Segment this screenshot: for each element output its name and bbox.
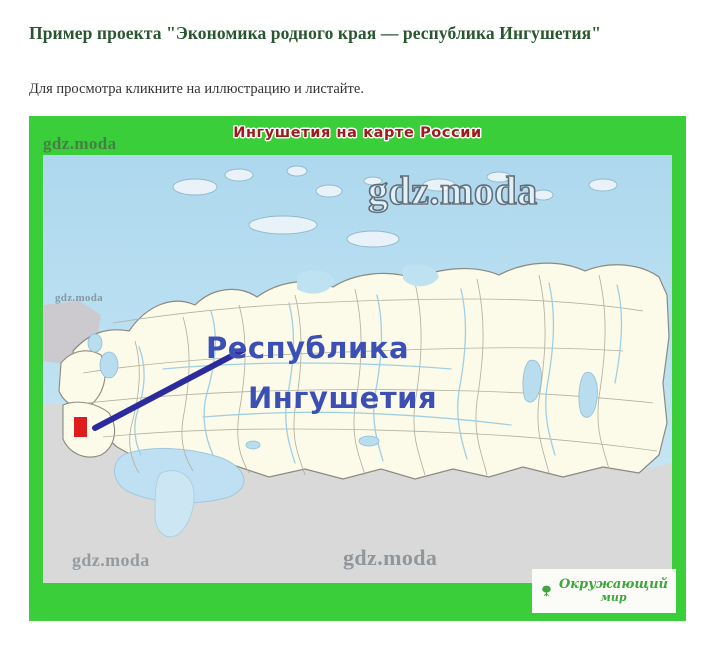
watermark-band: gdz.moda bbox=[43, 134, 117, 154]
illustration-caption: Ингушетия на карте России bbox=[29, 125, 686, 141]
russia-map-graphic bbox=[43, 155, 672, 583]
site-logo-line-2: мир bbox=[559, 592, 668, 604]
illustration-frame[interactable]: gdz.moda Ингушетия на карте России bbox=[29, 116, 686, 621]
site-logo-text: Окружающий мир bbox=[559, 578, 668, 603]
site-logo[interactable]: Окружающий мир bbox=[532, 569, 676, 613]
page-title: Пример проекта "Экономика родного края —… bbox=[29, 22, 629, 45]
site-logo-line-1: Окружающий bbox=[559, 578, 668, 592]
tree-icon bbox=[540, 574, 553, 608]
ingushetia-marker bbox=[73, 416, 88, 438]
map-canvas[interactable]: Республика Ингушетия gdz.moda gdz.moda g… bbox=[43, 155, 672, 583]
page-subtitle: Для просмотра кликните на иллюстрацию и … bbox=[29, 81, 364, 98]
